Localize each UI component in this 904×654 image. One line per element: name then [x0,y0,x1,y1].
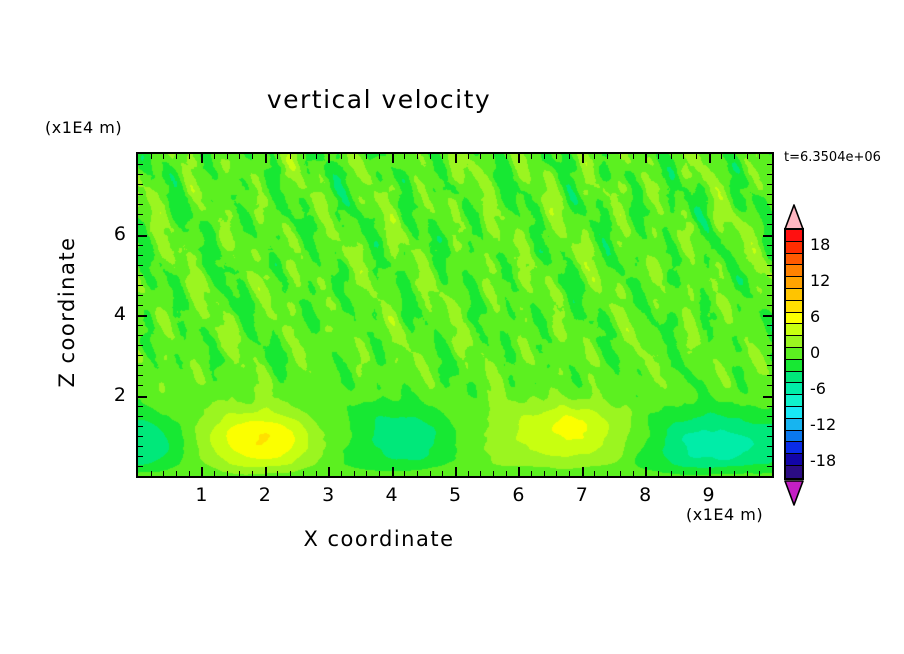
x-axis-units-label: (x1E4 m) [686,505,763,524]
figure-canvas: vertical velocity (x1E4 m) t=6.3504e+06 … [0,0,904,654]
x-tick-bottom [683,471,684,476]
x-tick-top [303,154,304,159]
x-axis-tick-label: 8 [630,484,660,506]
x-axis-title: X coordinate [0,527,758,551]
y-tick-left [138,174,143,175]
x-axis-tick-label: 6 [503,484,533,506]
y-tick-left [138,275,143,276]
x-tick-bottom [303,471,304,476]
x-tick-top [176,154,177,159]
x-tick-top [442,154,443,159]
y-tick-right [767,224,772,225]
x-tick-top [480,154,481,159]
colorbar-band [786,265,802,277]
x-tick-top [506,154,507,159]
x-axis-tick-label: 5 [440,484,470,506]
y-tick-right [767,456,772,457]
y-tick-left [138,305,143,306]
colorbar-band [786,348,802,360]
x-tick-bottom [277,471,278,476]
x-tick-top [151,154,152,159]
x-tick-bottom [151,471,152,476]
y-tick-left [138,285,143,286]
colorbar-band [786,454,802,466]
y-tick-left [138,204,143,205]
y-tick-right [767,426,772,427]
x-tick-top [290,154,291,159]
x-tick-top [163,154,164,159]
y-tick-left [138,214,143,215]
x-tick-top [265,154,267,163]
x-axis-tick-label: 2 [250,484,280,506]
y-tick-left [138,295,143,296]
x-tick-bottom [417,471,418,476]
y-tick-left [138,436,143,437]
x-tick-top [633,154,634,159]
colorbar-band [786,383,802,395]
colorbar-over-arrow-icon [784,204,804,230]
x-tick-bottom [696,471,697,476]
x-tick-top [316,154,317,159]
x-tick-bottom [506,471,507,476]
y-tick-left [138,375,143,376]
y-tick-right [767,164,772,165]
x-tick-top [569,154,570,159]
x-tick-top [721,154,722,159]
x-tick-top [594,154,595,159]
colorbar-band [786,372,802,384]
x-tick-bottom [379,471,380,476]
y-tick-right [767,385,772,386]
x-tick-top [239,154,240,159]
colorbar-band [786,360,802,372]
y-tick-right [767,446,772,447]
x-tick-bottom [265,467,267,476]
y-tick-left [138,235,147,237]
y-tick-left [138,385,143,386]
x-tick-bottom [709,467,711,476]
y-tick-left [138,325,143,326]
x-tick-top [734,154,735,159]
x-tick-top [556,154,557,159]
colorbar-band [786,407,802,419]
x-tick-bottom [366,471,367,476]
colorbar: 181260-6-12-18 [782,204,806,504]
x-axis-tick-label: 7 [567,484,597,506]
x-tick-bottom [404,471,405,476]
x-tick-top [518,154,520,163]
x-tick-bottom [290,471,291,476]
x-tick-bottom [734,471,735,476]
x-tick-bottom [531,471,532,476]
colorbar-tick-label: 18 [810,235,830,254]
x-tick-top [379,154,380,159]
x-tick-top [328,154,330,163]
x-tick-bottom [556,471,557,476]
y-tick-right [763,396,772,398]
y-tick-right [767,436,772,437]
x-tick-top [709,154,711,163]
y-tick-right [767,265,772,266]
y-axis-units-label: (x1E4 m) [45,118,122,137]
y-tick-right [767,255,772,256]
colorbar-band [786,301,802,313]
x-tick-bottom [544,471,545,476]
y-tick-right [767,466,772,467]
x-tick-top [214,154,215,159]
y-axis-title: Z coordinate [55,222,79,402]
colorbar-tick-label: -12 [810,415,836,434]
time-stamp-annotation: t=6.3504e+06 [784,150,881,165]
x-tick-top [493,154,494,159]
y-tick-left [138,315,147,317]
y-tick-left [138,406,143,407]
y-tick-left [138,245,143,246]
x-tick-bottom [468,471,469,476]
x-tick-bottom [582,467,584,476]
contour-field-canvas [138,154,772,476]
colorbar-band [786,254,802,266]
x-tick-top [404,154,405,159]
y-tick-left [138,194,143,195]
x-tick-bottom [658,471,659,476]
x-tick-top [531,154,532,159]
x-tick-bottom [569,471,570,476]
x-tick-top [354,154,355,159]
y-tick-right [767,194,772,195]
x-tick-bottom [189,471,190,476]
x-tick-bottom [442,471,443,476]
y-tick-left [138,396,147,398]
x-tick-top [759,154,760,159]
y-tick-right [767,375,772,376]
contour-plot-area [136,152,774,478]
y-tick-left [138,456,143,457]
y-tick-left [138,426,143,427]
x-tick-bottom [633,471,634,476]
x-tick-bottom [201,467,203,476]
colorbar-band [786,277,802,289]
y-tick-left [138,345,143,346]
x-tick-top [430,154,431,159]
colorbar-tick-label: -18 [810,451,836,470]
x-tick-bottom [721,471,722,476]
x-axis-tick-label: 4 [377,484,407,506]
x-tick-top [658,154,659,159]
y-tick-right [767,245,772,246]
x-tick-top [620,154,621,159]
y-tick-left [138,265,143,266]
colorbar-bands [784,228,804,480]
x-tick-bottom [163,471,164,476]
x-tick-bottom [518,467,520,476]
x-tick-bottom [480,471,481,476]
page-title: vertical velocity [0,85,758,114]
colorbar-tick-label: -6 [810,379,826,398]
x-tick-top [277,154,278,159]
y-axis-tick-label: 4 [96,303,126,325]
x-axis-tick-label: 3 [313,484,343,506]
x-tick-bottom [328,467,330,476]
x-tick-top [366,154,367,159]
x-tick-top [455,154,457,163]
x-tick-bottom [671,471,672,476]
y-tick-left [138,255,143,256]
y-tick-left [138,224,143,225]
x-tick-bottom [392,467,394,476]
y-tick-right [767,275,772,276]
y-tick-right [763,235,772,237]
x-tick-top [645,154,647,163]
y-tick-left [138,355,143,356]
y-tick-right [763,315,772,317]
colorbar-band [786,419,802,431]
colorbar-band [786,289,802,301]
y-tick-right [767,184,772,185]
x-tick-bottom [455,467,457,476]
colorbar-under-arrow-icon [784,480,804,506]
colorbar-band [786,431,802,443]
y-tick-right [767,285,772,286]
y-tick-left [138,335,143,336]
x-tick-top [468,154,469,159]
x-tick-bottom [607,471,608,476]
x-tick-top [544,154,545,159]
y-tick-right [767,355,772,356]
y-tick-right [767,406,772,407]
colorbar-band [786,324,802,336]
x-tick-top [201,154,203,163]
y-tick-right [767,214,772,215]
y-tick-right [767,325,772,326]
x-tick-top [189,154,190,159]
x-tick-top [683,154,684,159]
y-tick-right [767,335,772,336]
x-tick-top [341,154,342,159]
x-tick-bottom [239,471,240,476]
y-axis-tick-label: 2 [96,384,126,406]
x-tick-bottom [430,471,431,476]
x-tick-top [417,154,418,159]
x-tick-bottom [645,467,647,476]
colorbar-band [786,313,802,325]
colorbar-tick-label: 12 [810,271,830,290]
y-tick-right [767,345,772,346]
y-tick-right [767,416,772,417]
x-tick-bottom [759,471,760,476]
x-tick-bottom [227,471,228,476]
y-tick-right [767,305,772,306]
y-tick-right [767,365,772,366]
x-tick-bottom [493,471,494,476]
x-tick-bottom [747,471,748,476]
x-tick-bottom [594,471,595,476]
x-tick-bottom [252,471,253,476]
x-tick-top [747,154,748,159]
y-tick-left [138,365,143,366]
y-tick-left [138,164,143,165]
x-tick-top [582,154,584,163]
y-tick-right [767,204,772,205]
x-tick-bottom [341,471,342,476]
x-tick-top [252,154,253,159]
y-tick-right [767,295,772,296]
x-tick-bottom [316,471,317,476]
x-tick-top [607,154,608,159]
x-tick-bottom [176,471,177,476]
y-tick-left [138,416,143,417]
y-tick-left [138,184,143,185]
colorbar-band [786,442,802,454]
colorbar-tick-label: 6 [810,307,820,326]
colorbar-band [786,336,802,348]
x-axis-tick-label: 1 [186,484,216,506]
x-tick-top [392,154,394,163]
y-axis-tick-label: 6 [96,223,126,245]
x-tick-bottom [214,471,215,476]
y-tick-left [138,466,143,467]
y-tick-right [767,174,772,175]
x-tick-top [671,154,672,159]
colorbar-band [786,395,802,407]
y-tick-left [138,446,143,447]
x-axis-tick-label: 9 [694,484,724,506]
x-tick-bottom [620,471,621,476]
x-tick-top [227,154,228,159]
colorbar-band [786,242,802,254]
colorbar-band [786,230,802,242]
x-tick-bottom [354,471,355,476]
colorbar-band [786,466,802,478]
colorbar-tick-label: 0 [810,343,820,362]
x-tick-top [696,154,697,159]
